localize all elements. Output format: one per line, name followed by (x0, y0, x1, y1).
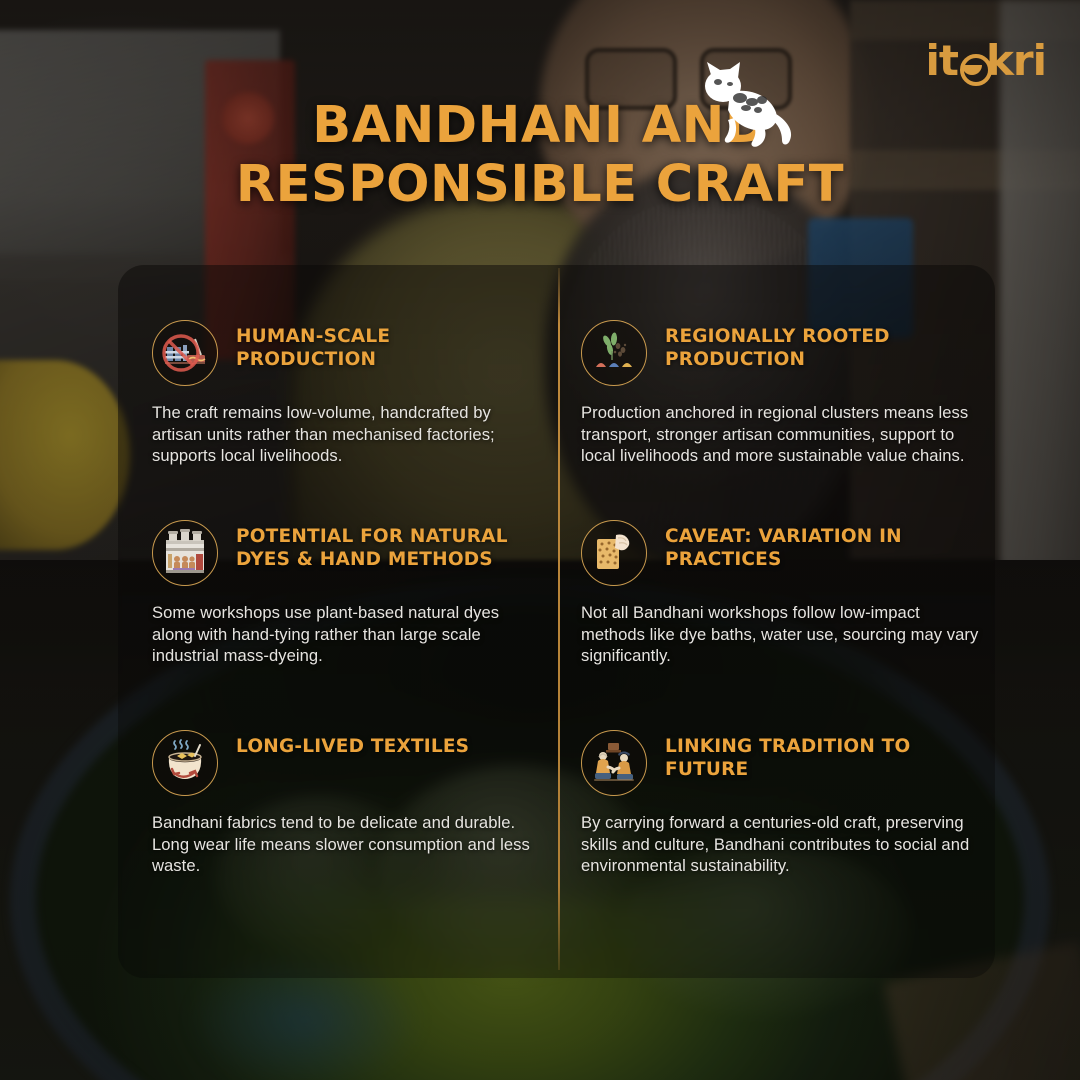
benefit-item-caveat-variation-in-practices: CAVEAT: VARIATION IN PRACTICES Not all B… (581, 520, 981, 667)
benefit-title: LONG-LIVED TEXTILES (236, 730, 536, 758)
benefit-header: POTENTIAL FOR NATURAL DYES & HAND METHOD… (152, 520, 544, 586)
benefit-header: REGIONALLY ROOTED PRODUCTION (581, 320, 981, 386)
benefit-body: The craft remains low-volume, handcrafte… (152, 402, 544, 467)
steaming-dye-pot-recycle-icon (152, 730, 218, 796)
benefit-item-natural-dyes-hand-methods: POTENTIAL FOR NATURAL DYES & HAND METHOD… (152, 520, 544, 667)
benefit-item-long-lived-textiles: LONG-LIVED TEXTILES Bandhani fabrics ten… (152, 730, 544, 877)
benefit-item-human-scale-production: HUMAN-SCALE PRODUCTION The craft remains… (152, 320, 544, 467)
benefit-header: HUMAN-SCALE PRODUCTION (152, 320, 544, 386)
benefit-header: CAVEAT: VARIATION IN PRACTICES (581, 520, 981, 586)
benefit-title: POTENTIAL FOR NATURAL DYES & HAND METHOD… (236, 520, 536, 572)
benefit-body: Some workshops use plant-based natural d… (152, 602, 544, 667)
benefit-title: CAVEAT: VARIATION IN PRACTICES (665, 520, 945, 572)
benefit-body: Not all Bandhani workshops follow low-im… (581, 602, 981, 667)
benefit-title: REGIONALLY ROOTED PRODUCTION (665, 320, 965, 372)
benefit-item-regionally-rooted-production: REGIONALLY ROOTED PRODUCTION Production … (581, 320, 981, 467)
leaves-and-natural-dye-powders-icon (581, 320, 647, 386)
benefit-title: HUMAN-SCALE PRODUCTION (236, 320, 466, 372)
infographic-poster: itkri BANDHANI AND RESPONSIBLE CRAFT (0, 0, 1080, 1080)
benefit-body: Bandhani fabrics tend to be delicate and… (152, 812, 544, 877)
benefit-header: LONG-LIVED TEXTILES (152, 730, 544, 796)
no-factory-machine-icon (152, 320, 218, 386)
artisan-workshop-building-icon (152, 520, 218, 586)
benefit-body: Production anchored in regional clusters… (581, 402, 981, 467)
benefit-header: LINKING TRADITION TO FUTURE (581, 730, 981, 796)
hand-holding-patterned-fabric-icon (581, 520, 647, 586)
benefit-item-linking-tradition-to-future: LINKING TRADITION TO FUTURE By carrying … (581, 730, 981, 877)
benefit-body: By carrying forward a centuries-old craf… (581, 812, 981, 877)
benefit-title: LINKING TRADITION TO FUTURE (665, 730, 925, 782)
benefits-grid: HUMAN-SCALE PRODUCTION The craft remains… (0, 0, 1080, 1080)
two-seated-artisans-icon (581, 730, 647, 796)
